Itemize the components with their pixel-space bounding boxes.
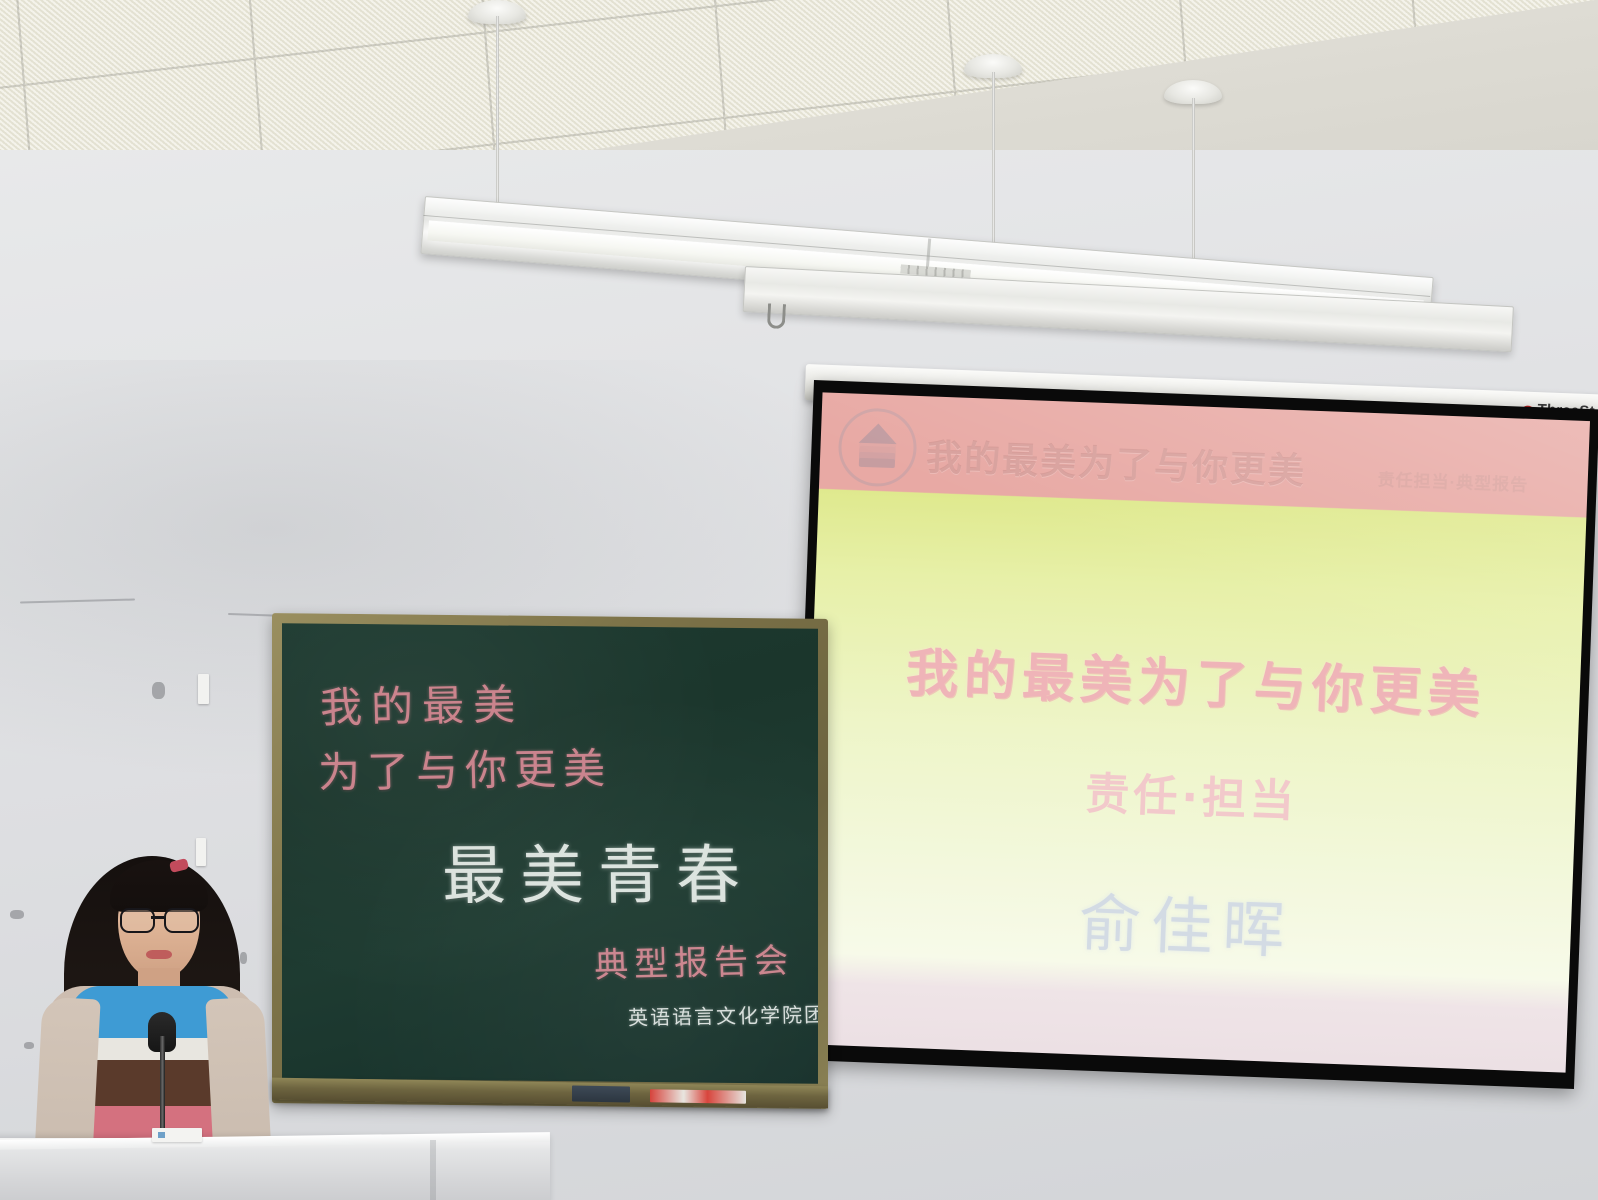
crest-tower-top [859,423,898,444]
slide-banner: 我的最美为了与你更美 责任担当·典型报告 [925,412,1578,516]
slide-main-title: 我的最美为了与你更美 [811,627,1581,731]
screen-hook-icon [767,303,786,329]
blackboard-surface: 我的最美 为了与你更美 最美青春 典型报告会 英语语言文化学院团委 [282,623,818,1084]
wall-plate [198,674,209,704]
glasses-bridge [151,916,164,919]
lens-left [120,908,155,933]
chalk-eraser [572,1086,630,1103]
chalk-line-2: 为了与你更美 [317,735,613,801]
classroom-photo-scene: ThreeSt 我的最美为了与你更美 责任担当·典型报告 我的最美为了与你更美 … [0,0,1598,1200]
mouth [146,950,172,959]
chalk-line-4: 英语语言文化学院团委 [628,998,818,1030]
chalk-line-3: 典型报告会 [593,933,795,987]
paper-mark [158,1132,165,1138]
lectern-edge [430,1140,436,1200]
chalk-headline: 最美青春 [441,824,754,917]
projection-screen: ThreeSt 我的最美为了与你更美 责任担当·典型报告 我的最美为了与你更美 … [806,330,1598,1070]
slide-subtitle: 责任·担当 [807,747,1577,840]
slide-presenter-name: 俞佳晖 [802,862,1573,981]
chalk-line-1: 我的最美 [319,671,525,735]
slide-banner-subtitle: 责任担当·典型报告 [1377,465,1529,496]
lectern-paper [152,1128,202,1142]
light-drop-rod [992,72,995,262]
light-drop-rod [496,16,499,208]
lens-right [164,908,199,933]
university-crest-icon [837,407,918,488]
screen-border: 我的最美为了与你更美 责任担当·典型报告 我的最美为了与你更美 责任·担当 俞佳… [788,380,1598,1089]
crest-tower-body [859,443,896,468]
wall-scuff [152,682,165,699]
slide-banner-title: 我的最美为了与你更美 [925,428,1307,494]
eyeglasses-icon [118,908,200,930]
chalk-box [650,1089,746,1104]
blackboard: 我的最美 为了与你更美 最美青春 典型报告会 英语语言文化学院团委 [272,616,828,1106]
projected-slide: 我的最美为了与你更美 责任担当·典型报告 我的最美为了与你更美 责任·担当 俞佳… [798,392,1590,1072]
